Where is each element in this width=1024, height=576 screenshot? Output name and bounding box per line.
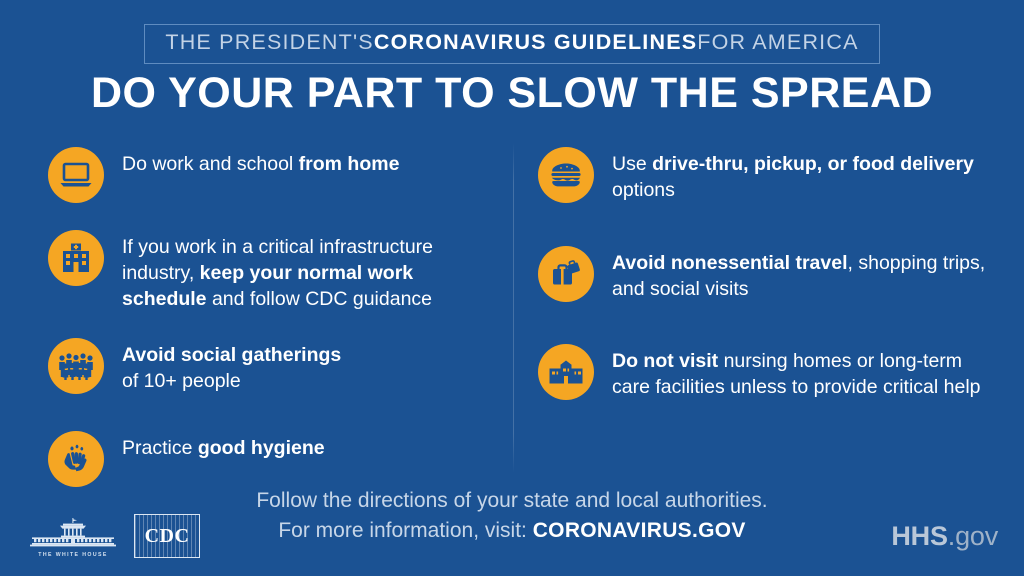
header-banner-wrap: THE PRESIDENT'S CORONAVIRUS GUIDELINES F… [0,24,1024,64]
list-item: Do work and school from home [48,147,498,203]
column-divider [513,143,514,473]
cdc-logo: CDC [134,514,200,558]
text-segment-bold: Avoid social gatherings [122,344,341,366]
text-segment-bold: drive-thru, pickup, or food delivery [652,153,974,175]
agency-logos: THE WHITE HOUSE CDC [30,514,200,558]
guidelines-columns: Do work and school from home [0,143,1024,473]
footer: Follow the directions of your state and … [0,476,1024,576]
list-item: Avoid nonessential travel, shopping trip… [538,246,988,303]
laptop-icon [48,147,104,203]
white-house-logo: THE WHITE HOUSE [30,518,116,558]
text-segment-bold: good hygiene [198,437,325,459]
text-segment-bold: Do not visit [612,350,718,372]
text-segment: of 10+ people [122,370,241,392]
page-title: DO YOUR PART TO SLOW THE SPREAD [0,72,1024,115]
nursing-home-building-icon [538,344,594,400]
hhs-logo-bold: HHS [891,521,947,551]
list-item: Use drive-thru, pickup, or food delivery… [538,147,988,204]
list-item-text: If you work in a critical infrastructure… [122,230,498,313]
text-segment: and follow CDC guidance [207,288,432,310]
text-segment: Practice [122,437,198,459]
text-segment-bold: from home [299,153,400,175]
suitcase-travel-icon [538,246,594,302]
banner-text-part3: FOR AMERICA [697,32,858,54]
list-item: Do not visit nursing homes or long-term … [538,344,988,401]
crowd-of-people-icon [48,338,104,394]
list-item: If you work in a critical infrastructure… [48,230,498,313]
text-segment: Use [612,153,652,175]
cdc-logo-text: CDC [145,525,190,548]
list-item-text: Practice good hygiene [122,431,325,462]
hhs-logo: HHS.gov [891,521,998,552]
list-item-text: Avoid nonessential travel, shopping trip… [612,246,988,303]
poster-root: THE PRESIDENT'S CORONAVIRUS GUIDELINES F… [0,0,1024,576]
hamburger-food-icon [538,147,594,203]
list-item: Avoid social gatherings of 10+ people [48,338,498,395]
right-column: Use drive-thru, pickup, or food delivery… [538,143,988,401]
hospital-building-icon [48,230,104,286]
coronavirus-gov-link[interactable]: CORONAVIRUS.GOV [533,519,746,542]
footer-line-2-prefix: For more information, visit: [278,519,532,542]
text-segment: Do work and school [122,153,299,175]
white-house-caption: THE WHITE HOUSE [38,552,107,558]
list-item-text: Use drive-thru, pickup, or food delivery… [612,147,988,204]
banner-text-part2: CORONAVIRUS GUIDELINES [374,32,697,54]
text-segment-bold: Avoid nonessential travel [612,252,848,274]
list-item-text: Do work and school from home [122,147,399,178]
list-item-text: Avoid social gatherings of 10+ people [122,338,341,395]
banner-text-part1: THE PRESIDENT'S [165,32,373,54]
hhs-logo-gov: .gov [948,521,998,551]
left-column: Do work and school from home [48,143,498,487]
footer-line-1: Follow the directions of your state and … [0,486,1024,516]
list-item-text: Do not visit nursing homes or long-term … [612,344,988,401]
header-banner: THE PRESIDENT'S CORONAVIRUS GUIDELINES F… [144,24,879,64]
text-segment: options [612,179,675,201]
